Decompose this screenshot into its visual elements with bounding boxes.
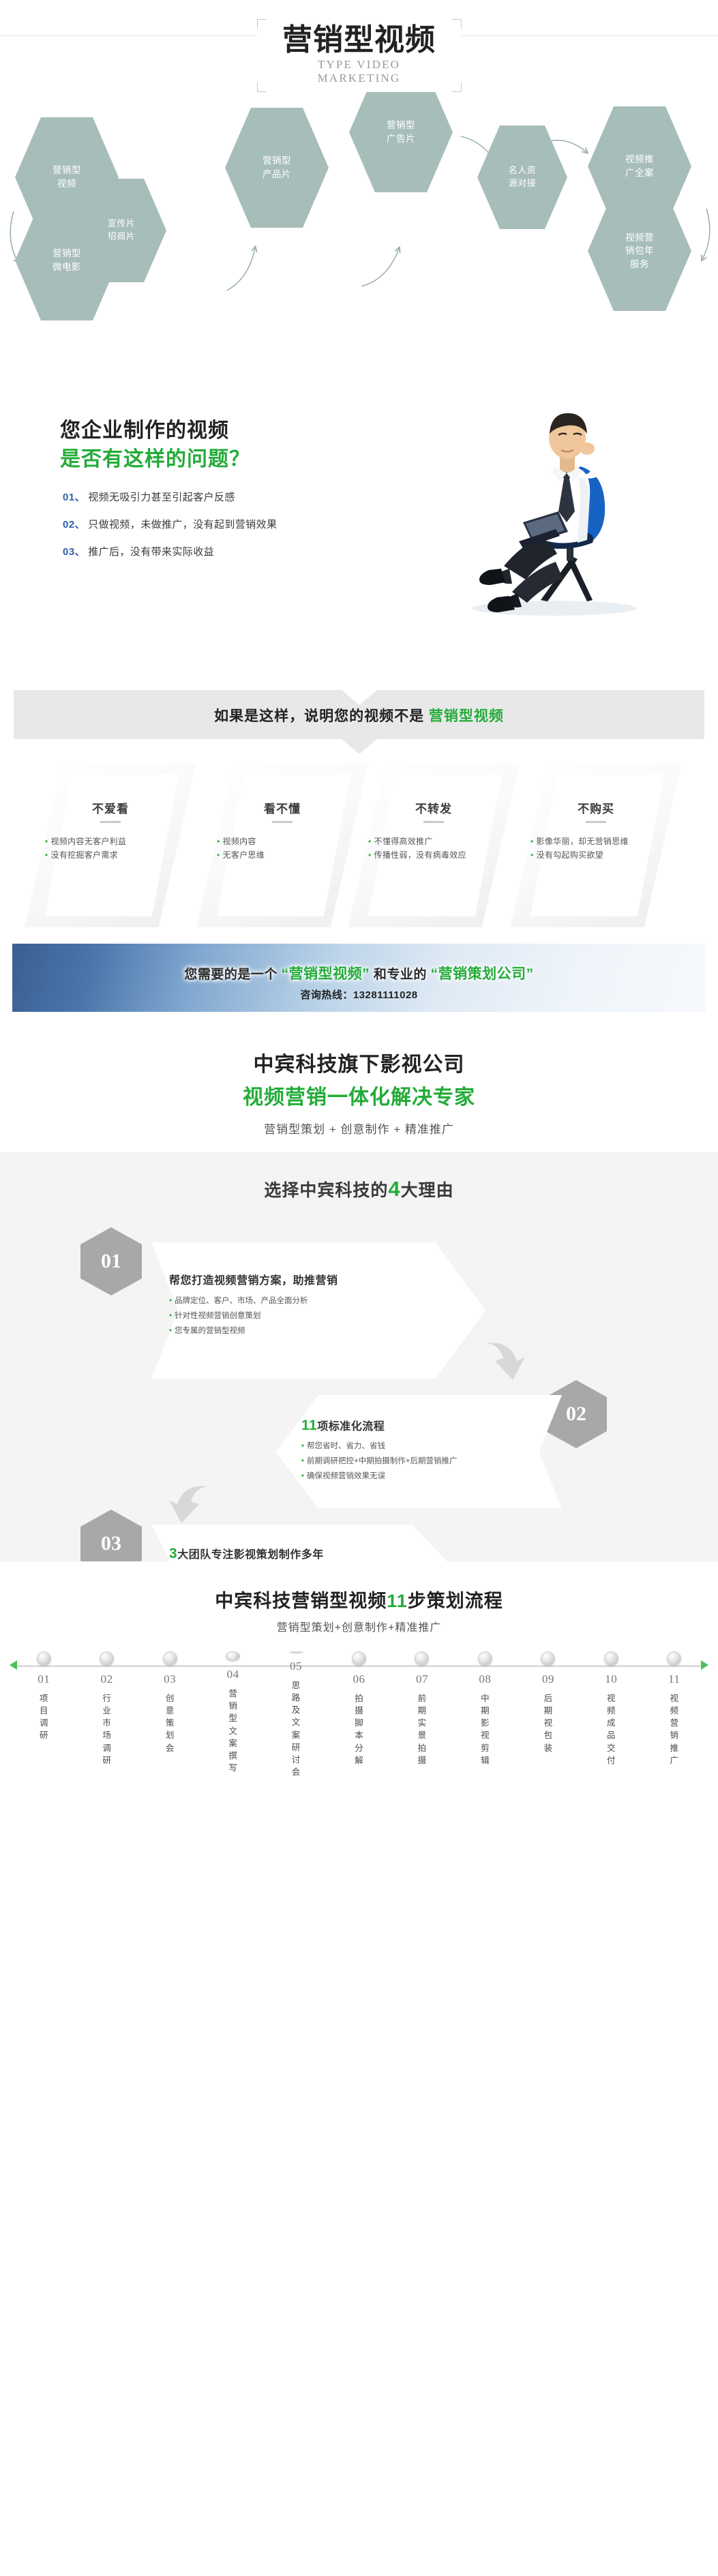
problem-number: 03、 (63, 544, 85, 558)
problem-card-title: 不爱看 (25, 799, 196, 816)
bullet-text: 影像华丽，却无营销思维 (537, 835, 629, 848)
problem-card-divider (100, 821, 121, 823)
step-node-icon (667, 1651, 681, 1666)
step-node-icon (541, 1651, 555, 1666)
problem-section: 您企业制作的视频 是否有这样的问题？ 01、 视频无吸引力甚至引起客户反感 02… (0, 382, 718, 675)
step-item-10[interactable]: 10视频成品交付 (580, 1651, 642, 1774)
bullet-item: •品牌定位、客户、市场、产品全面分析 (169, 1294, 455, 1309)
corner-bracket-icon (257, 83, 267, 92)
step-label: 思路及文案研讨会 (290, 1679, 302, 1778)
problem-number: 01、 (63, 490, 85, 504)
bullet-dot-icon: • (368, 848, 372, 862)
hero-title-en: TYPE VIDEO MARKETING (275, 58, 444, 85)
bullet-dot-icon: • (301, 1469, 304, 1484)
bullet-text: 针对性视频营销创意策划 (175, 1309, 261, 1324)
bullet-dot-icon: • (45, 835, 48, 848)
hex-line: 名人资 (509, 164, 537, 177)
corner-bracket-icon (452, 83, 462, 92)
hex-line: 产品片 (263, 168, 291, 181)
reason-heading-text-03: 大团队专注影视策划制作多年 (177, 1549, 324, 1561)
hexagon-diagram: 营销型视频 宣传片招商片 营销型产品片 营销型广告片 名人资源对接 视频推广全案… (0, 75, 718, 300)
banner-highlight: 营销型视频 (429, 708, 504, 724)
problem-headline-2: 是否有这样的问题？ (60, 442, 250, 472)
hex-line: 营销型 (387, 119, 415, 132)
banner-notch-bottom-icon (342, 739, 377, 754)
step-number: 04 (227, 1668, 239, 1681)
bullet-item: •视频内容无客户利益 (45, 835, 168, 848)
bullet-dot-icon: • (217, 835, 220, 848)
flow-arrow-down-right-icon (484, 1336, 532, 1384)
step-number: 07 (416, 1673, 428, 1686)
hex-line: 微电影 (53, 260, 81, 274)
problem-item: 02、 只做视频，未做推广，没有起到营销效果 (63, 517, 277, 531)
step-number: 08 (479, 1673, 491, 1686)
step-label: 后期视包装 (542, 1692, 554, 1754)
bullet-item: •不懂得高效推广 (368, 835, 491, 848)
problem-text: 只做视频，未做推广，没有起到营销效果 (88, 517, 277, 531)
hex-line: 广全案 (625, 166, 654, 180)
reason-heading-number-03: 3 (169, 1546, 177, 1561)
bullet-text: 没有勾起购买欲望 (537, 848, 603, 862)
problem-card-1[interactable]: 不爱看 •视频内容无客户利益 •没有挖掘客户需求 (25, 764, 196, 927)
problem-headline-1: 您企业制作的视频 (60, 413, 229, 443)
problem-text: 视频无吸引力甚至引起客户反感 (88, 490, 235, 504)
company-line-2: 视频营销一体化解决专家 (0, 1080, 718, 1110)
problem-card-bullets: •视频内容 •无客户思维 (217, 835, 340, 863)
problem-list: 01、 视频无吸引力甚至引起客户反感 02、 只做视频，未做推广，没有起到营销效… (63, 490, 277, 571)
step-item-11[interactable]: 11视频营销推广 (643, 1651, 706, 1774)
steps-title-a: 中宾科技营销型视频 (215, 1591, 387, 1611)
businessman-illustration (438, 395, 663, 620)
problem-card-divider (423, 821, 444, 823)
steps-subtitle: 营销型策划+创意制作+精准推广 (0, 1618, 718, 1634)
step-item-02[interactable]: 02行业市场调研 (75, 1651, 138, 1774)
bullet-text: 不懂得高效推广 (374, 835, 433, 848)
corner-bracket-icon (257, 19, 267, 29)
problem-card-bullets: •影像华丽，却无营销思维 •没有勾起购买欲望 (530, 835, 653, 863)
problem-text: 推广后，没有带来实际收益 (88, 544, 214, 558)
bullet-dot-icon: • (301, 1439, 304, 1454)
hex-line: 宣传片 (108, 218, 136, 230)
hero-title-box: 营销型视频 TYPE VIDEO MARKETING (257, 19, 462, 92)
bullet-text: 视频内容无客户利益 (51, 835, 127, 848)
step-node-icon (37, 1651, 51, 1666)
step-label: 前期实景拍摄 (416, 1692, 428, 1767)
step-label: 行业市场调研 (101, 1692, 113, 1767)
company-line-1: 中宾科技旗下影视公司 (0, 1023, 718, 1077)
hex-line: 营销型 (53, 164, 81, 177)
steps-section: 中宾科技营销型视频11步策划流程 营销型策划+创意制作+精准推广 01项目调研 … (0, 1561, 718, 1786)
steps-title-b: 步策划流程 (408, 1591, 503, 1611)
step-label: 视频营销推广 (668, 1692, 680, 1767)
grey-banner-text: 如果是这样，说明您的视频不是 营销型视频 (0, 705, 718, 725)
hex-line: 营销型 (53, 247, 81, 260)
step-label: 营销型文案撰写 (227, 1688, 239, 1774)
reason-badge-01: 01 (80, 1227, 142, 1296)
reason-content-02: 11项标准化流程 •帮您省时、省力、省钱 •前期调研把控+中期拍摄制作+后期营销… (301, 1417, 554, 1484)
bullet-dot-icon: • (169, 1309, 172, 1324)
hex-line: 营销型 (263, 154, 291, 168)
flow-arrow-down-left-icon (162, 1480, 210, 1527)
step-item-05[interactable]: 05思路及文案研讨会 (265, 1651, 327, 1774)
cta-banner-section: 您需要的是一个 “营销型视频” 和专业的 “营销策划公司” 咨询热线：13281… (0, 934, 718, 1023)
bullet-item: •前期调研把控+中期拍摄制作+后期营销推广 (301, 1454, 554, 1469)
bullet-item: •视频内容 (217, 835, 340, 848)
step-item-01[interactable]: 01项目调研 (12, 1651, 75, 1774)
bullet-item: •确保视频营销效果无误 (301, 1469, 554, 1484)
reason-heading-02: 11项标准化流程 (301, 1417, 554, 1434)
step-node-icon (604, 1651, 618, 1666)
step-node-icon (163, 1651, 177, 1666)
step-number: 03 (164, 1673, 176, 1686)
problem-item: 03、 推广后，没有带来实际收益 (63, 544, 277, 558)
bullet-text: 您专属的营销型视频 (175, 1324, 245, 1339)
problem-card-title: 不购买 (510, 799, 682, 816)
bullet-dot-icon: • (169, 1294, 172, 1309)
reason-bullets-02: •帮您省时、省力、省钱 •前期调研把控+中期拍摄制作+后期营销推广 •确保视频营… (301, 1439, 554, 1484)
hex-line: 服务 (625, 258, 654, 271)
hexagon-annual-service[interactable]: 视频营销包年服务 (588, 191, 691, 311)
landing-page: 营销型视频 TYPE VIDEO MARKETING (0, 0, 718, 1786)
reason-bullets-01: •品牌定位、客户、市场、产品全面分析 •针对性视频营销创意策划 •您专属的营销型… (169, 1294, 455, 1339)
hex-line: 招商片 (108, 230, 136, 243)
hexagon-product-film[interactable]: 营销型产品片 (225, 108, 329, 228)
bullet-item: •帮您省时、省力、省钱 (301, 1439, 554, 1454)
cta-highlight-2: “营销策划公司” (431, 966, 534, 982)
cta-hotline: 咨询热线：13281111028 (0, 987, 718, 1002)
hero-title-cn: 营销型视频 (275, 23, 444, 57)
step-number: 10 (605, 1673, 617, 1686)
step-item-04[interactable]: 04营销型文案撰写 (201, 1651, 264, 1774)
reasons-title-number: 4 (388, 1177, 400, 1201)
step-node-icon (352, 1651, 366, 1666)
hex-line: 销包年 (625, 244, 654, 258)
step-number: 06 (353, 1673, 365, 1686)
step-node-icon (415, 1651, 429, 1666)
step-item-06[interactable]: 06拍摄脚本分解 (327, 1651, 390, 1774)
bullet-text: 无客户思维 (223, 848, 265, 862)
problem-card-title: 不转发 (348, 799, 520, 816)
step-item-03[interactable]: 03创意策划会 (138, 1651, 201, 1774)
problem-card-title: 看不懂 (196, 799, 368, 816)
grey-banner-section: 如果是这样，说明您的视频不是 营销型视频 (0, 675, 718, 757)
problem-card-divider (586, 821, 606, 823)
step-number: 11 (668, 1673, 680, 1686)
corner-bracket-icon (452, 19, 462, 29)
reason-heading-03: 3大团队专注影视策划制作多年 (169, 1545, 442, 1562)
problem-item: 01、 视频无吸引力甚至引起客户反感 (63, 490, 277, 504)
bullet-item: •没有挖掘客户需求 (45, 848, 168, 862)
company-line-3: 营销型策划 + 创意制作 + 精准推广 (0, 1120, 718, 1137)
bullet-dot-icon: • (530, 835, 534, 848)
problem-card-3[interactable]: 不转发 •不懂得高效推广 •传播性弱，没有病毒效应 (348, 764, 520, 927)
cta-text-b: 和专业的 (370, 968, 431, 982)
bullet-item: •影像华丽，却无营销思维 (530, 835, 653, 848)
badge-number: 03 (101, 1532, 121, 1555)
bullet-text: 帮您省时、省力、省钱 (307, 1439, 385, 1454)
problem-card-bullets: •视频内容无客户利益 •没有挖掘客户需求 (45, 835, 168, 863)
hero-section: 营销型视频 TYPE VIDEO MARKETING (0, 0, 718, 382)
hero-title-wrap: 营销型视频 TYPE VIDEO MARKETING (257, 12, 462, 102)
steps-title-number: 11 (387, 1591, 408, 1611)
hex-line: 视频营 (625, 231, 654, 245)
bullet-item: •针对性视频营销创意策划 (169, 1309, 455, 1324)
bullet-dot-icon: • (169, 1324, 172, 1339)
reasons-stage: 01 帮您打造视频营销方案，助推营销 •品牌定位、客户、市场、产品全面分析 •针… (0, 1201, 718, 1542)
banner-notch-top-icon (342, 690, 377, 705)
steps-title: 中宾科技营销型视频11步策划流程 (0, 1561, 718, 1613)
bullet-text: 确保视频营销效果无误 (307, 1469, 385, 1484)
step-node-icon (100, 1651, 114, 1666)
step-node-icon (478, 1651, 492, 1666)
bullet-dot-icon: • (45, 848, 48, 862)
hexagon-celebrity[interactable]: 名人资源对接 (477, 125, 567, 229)
problem-number: 02、 (63, 517, 85, 531)
step-label: 视频成品交付 (605, 1692, 617, 1767)
bullet-item: •传播性弱，没有病毒效应 (368, 848, 491, 862)
reasons-title-b: 大理由 (401, 1181, 454, 1200)
step-item-09[interactable]: 09后期视包装 (517, 1651, 580, 1774)
step-number: 05 (290, 1660, 302, 1673)
badge-number: 02 (566, 1403, 586, 1426)
hex-line: 视频 (53, 177, 81, 191)
banner-prefix: 如果是这样，说明您的视频不是 (214, 708, 429, 724)
reasons-title-a: 选择中宾科技的 (264, 1181, 388, 1200)
problem-card-4[interactable]: 不购买 •影像华丽，却无营销思维 •没有勾起购买欲望 (510, 764, 682, 927)
reason-badge-02: 02 (545, 1380, 607, 1448)
step-number: 09 (542, 1673, 554, 1686)
reasons-section: 选择中宾科技的4大理由 01 帮您打造视频营销方案，助推营销 •品牌定位、客户、… (0, 1152, 718, 1561)
step-label: 拍摄脚本分解 (353, 1692, 365, 1767)
badge-number: 01 (101, 1250, 121, 1273)
bullet-item: •您专属的营销型视频 (169, 1324, 455, 1339)
problem-card-2[interactable]: 看不懂 •视频内容 •无客户思维 (196, 764, 368, 927)
step-label: 项目调研 (38, 1692, 50, 1742)
step-label: 创意策划会 (164, 1692, 176, 1754)
bullet-text: 品牌定位、客户、市场、产品全面分析 (175, 1294, 308, 1309)
step-item-08[interactable]: 08中期影视剪辑 (453, 1651, 516, 1774)
bullet-dot-icon: • (217, 848, 220, 862)
cta-highlight-1: “营销型视频” (282, 966, 370, 982)
bullet-dot-icon: • (368, 835, 372, 848)
bullet-text: 前期调研把控+中期拍摄制作+后期营销推广 (307, 1454, 457, 1469)
cta-line-1: 您需要的是一个 “营销型视频” 和专业的 “营销策划公司” (0, 963, 718, 983)
step-node-icon (226, 1651, 240, 1661)
hex-line: 源对接 (509, 177, 537, 190)
steps-track: 01项目调研 02行业市场调研 03创意策划会 04营销型文案撰写 05思路及文… (12, 1651, 706, 1774)
step-node-icon (289, 1651, 303, 1653)
bullet-dot-icon: • (530, 848, 534, 862)
bullet-text: 没有挖掘客户需求 (51, 848, 118, 862)
step-label: 中期影视剪辑 (479, 1692, 491, 1767)
cta-text-a: 您需要的是一个 (184, 968, 281, 982)
reason-heading-01: 帮您打造视频营销方案，助推营销 (169, 1271, 455, 1287)
bullet-item: •没有勾起购买欲望 (530, 848, 653, 862)
company-section: 中宾科技旗下影视公司 视频营销一体化解决专家 营销型策划 + 创意制作 + 精准… (0, 1023, 718, 1152)
step-number: 02 (101, 1673, 113, 1686)
reasons-title: 选择中宾科技的4大理由 (0, 1152, 718, 1201)
step-item-07[interactable]: 07前期实景拍摄 (391, 1651, 453, 1774)
bullet-item: •无客户思维 (217, 848, 340, 862)
bullet-text: 传播性弱，没有病毒效应 (374, 848, 466, 862)
hex-line: 广告片 (387, 132, 415, 146)
four-problems-section: 不爱看 •视频内容无客户利益 •没有挖掘客户需求 看不懂 •视频内容 •无客户思… (0, 757, 718, 934)
reason-heading-text-02: 项标准化流程 (317, 1421, 385, 1433)
bullet-dot-icon: • (301, 1454, 304, 1469)
hex-line: 视频推 (625, 153, 654, 166)
bullet-text: 视频内容 (223, 835, 256, 848)
problem-card-bullets: •不懂得高效推广 •传播性弱，没有病毒效应 (368, 835, 491, 863)
problem-card-divider (272, 821, 293, 823)
reason-content-01: 帮您打造视频营销方案，助推营销 •品牌定位、客户、市场、产品全面分析 •针对性视… (169, 1271, 455, 1339)
reason-heading-number-02: 11 (301, 1418, 317, 1433)
step-number: 01 (38, 1673, 50, 1686)
